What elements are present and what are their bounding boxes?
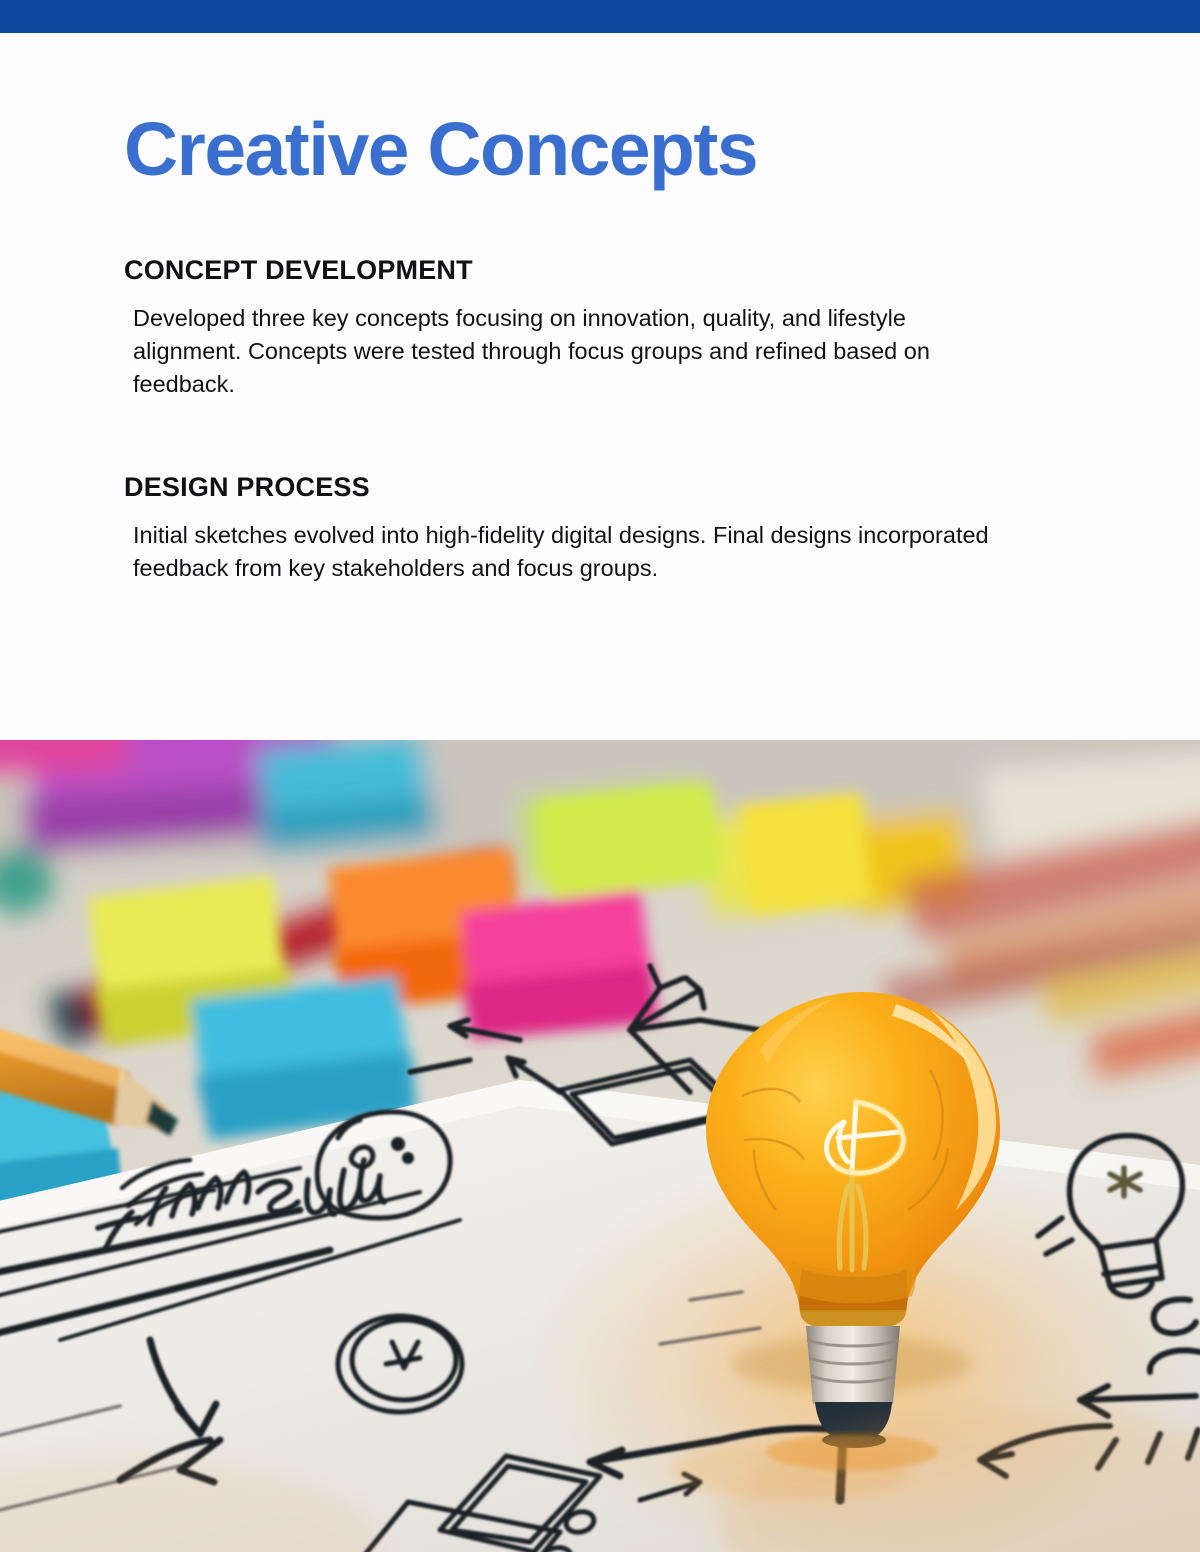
- section-design-process: DESIGN PROCESS Initial sketches evolved …: [124, 473, 1024, 585]
- photo-illustration: [0, 740, 1200, 1552]
- section-heading: CONCEPT DEVELOPMENT: [124, 256, 1024, 286]
- document-page: Creative Concepts CONCEPT DEVELOPMENT De…: [0, 0, 1200, 1552]
- section-concept-development: CONCEPT DEVELOPMENT Developed three key …: [124, 256, 1024, 402]
- sticky-note-yellow-right: [740, 794, 872, 914]
- section-body: Initial sketches evolved into high-fidel…: [133, 519, 1018, 586]
- section-heading: DESIGN PROCESS: [124, 473, 1024, 503]
- sticky-note-lime: [540, 784, 722, 898]
- text-content-area: Creative Concepts CONCEPT DEVELOPMENT De…: [0, 33, 1200, 740]
- top-accent-bar: [0, 0, 1200, 33]
- page-title: Creative Concepts: [124, 112, 757, 187]
- hero-photo-lightbulb-sketch: [0, 740, 1200, 1552]
- section-body: Developed three key concepts focusing on…: [133, 302, 1013, 402]
